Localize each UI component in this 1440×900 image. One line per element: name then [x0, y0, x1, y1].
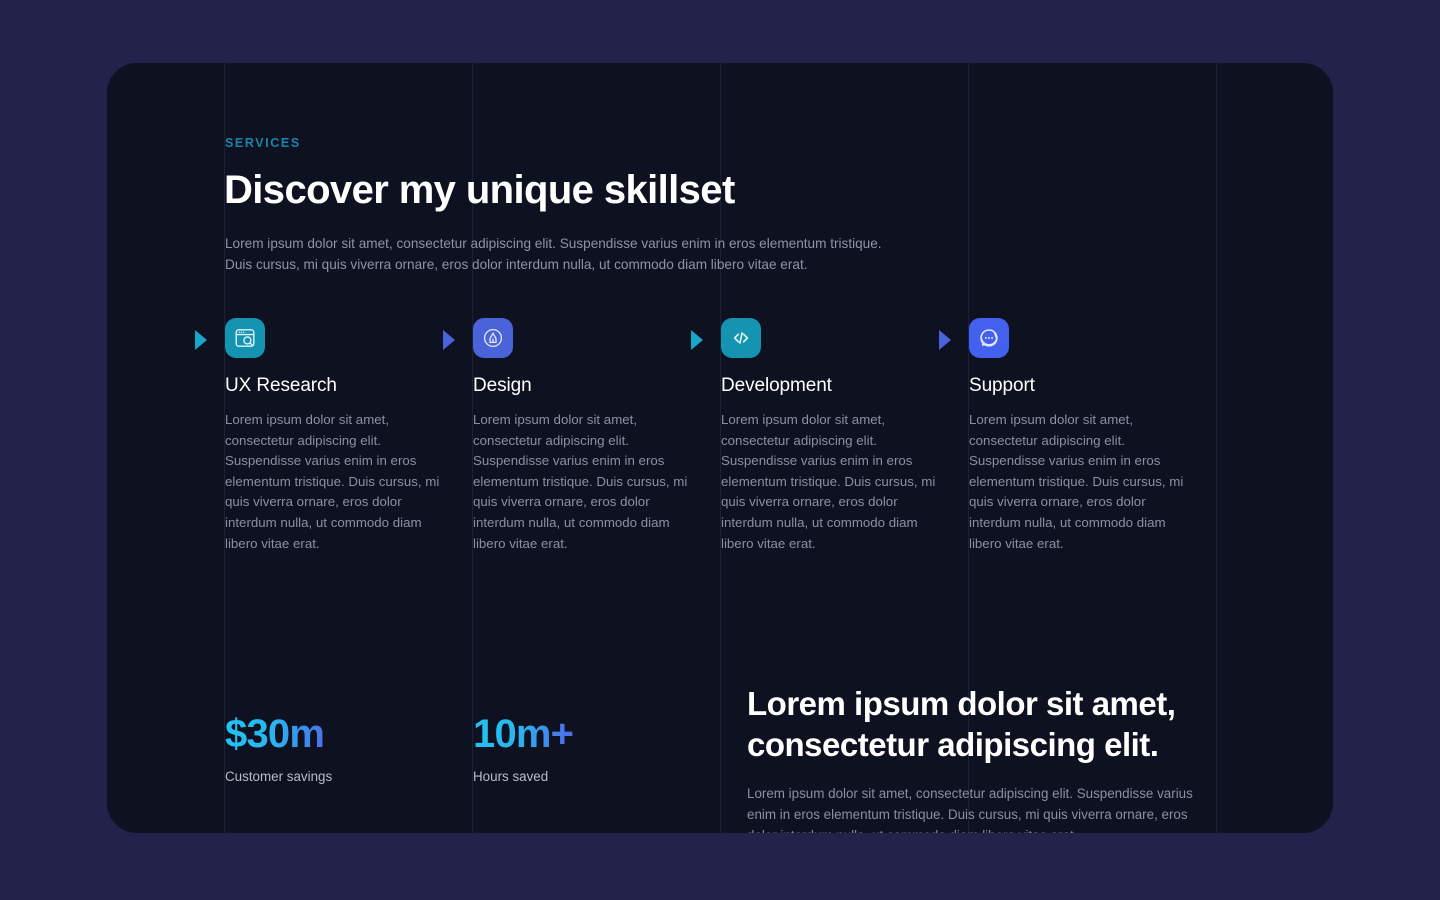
- arrow-right-icon: [195, 330, 207, 350]
- service-card-development[interactable]: Development Lorem ipsum dolor sit amet, …: [721, 318, 941, 554]
- stat-label: Customer savings: [225, 769, 332, 784]
- stat-label: Hours saved: [473, 769, 573, 784]
- promo-block: Lorem ipsum dolor sit amet, consectetur …: [747, 683, 1217, 833]
- page-root: SERVICES Discover my unique skillset Lor…: [0, 0, 1440, 900]
- arrow-right-icon: [691, 330, 703, 350]
- arrow-right-icon: [939, 330, 951, 350]
- service-body: Lorem ipsum dolor sit amet, consectetur …: [225, 410, 445, 554]
- service-title: UX Research: [225, 375, 445, 397]
- stat-value: $30m: [225, 713, 332, 755]
- pen-nib-circle-icon: [473, 318, 513, 358]
- stat-customer-savings: $30m Customer savings: [225, 713, 332, 784]
- service-card-ux-research[interactable]: UX Research Lorem ipsum dolor sit amet, …: [225, 318, 445, 554]
- arrow-right-icon: [443, 330, 455, 350]
- service-title: Design: [473, 375, 693, 397]
- browser-search-icon: [225, 318, 265, 358]
- page-title: Discover my unique skillset: [224, 168, 735, 213]
- promo-body: Lorem ipsum dolor sit amet, consectetur …: [747, 783, 1217, 833]
- service-title: Support: [969, 375, 1189, 397]
- service-body: Lorem ipsum dolor sit amet, consectetur …: [473, 410, 693, 554]
- section-eyebrow: SERVICES: [225, 136, 301, 150]
- service-card-support[interactable]: Support Lorem ipsum dolor sit amet, cons…: [969, 318, 1189, 554]
- section-intro-text: Lorem ipsum dolor sit amet, consectetur …: [225, 233, 905, 275]
- stat-hours-saved: 10m+ Hours saved: [473, 713, 573, 784]
- service-card-design[interactable]: Design Lorem ipsum dolor sit amet, conse…: [473, 318, 693, 554]
- service-body: Lorem ipsum dolor sit amet, consectetur …: [969, 410, 1189, 554]
- code-brackets-icon: [721, 318, 761, 358]
- stat-value: 10m+: [473, 713, 573, 755]
- service-title: Development: [721, 375, 941, 397]
- services-card: SERVICES Discover my unique skillset Lor…: [107, 63, 1333, 833]
- card-content: SERVICES Discover my unique skillset Lor…: [107, 63, 1333, 833]
- service-body: Lorem ipsum dolor sit amet, consectetur …: [721, 410, 941, 554]
- chat-bubble-dots-icon: [969, 318, 1009, 358]
- promo-title: Lorem ipsum dolor sit amet, consectetur …: [747, 683, 1217, 765]
